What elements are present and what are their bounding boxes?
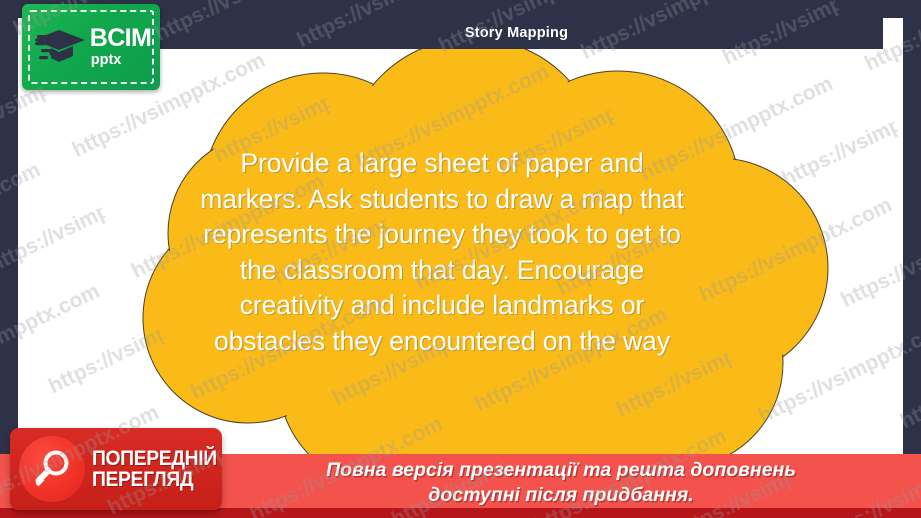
magnifier-icon xyxy=(19,436,85,502)
preview-badge[interactable]: ПОПЕРЕДНІЙ ПЕРЕГЛЯД xyxy=(10,428,222,510)
banner-message: Повна версія презентації та решта доповн… xyxy=(225,458,897,508)
preview-badge-line-2: ПЕРЕГЛЯД xyxy=(92,469,217,490)
presentation-viewer: Provide a large sheet of paper and marke… xyxy=(0,0,921,518)
slide-title-bar: Story Mapping xyxy=(150,16,883,49)
logo-wordmark: BCIM pptx xyxy=(90,26,151,68)
banner-line-1: Повна версія презентації та решта доповн… xyxy=(225,458,897,483)
preview-badge-line-1: ПОПЕРЕДНІЙ xyxy=(92,448,217,469)
logo-sub-text: pptx xyxy=(91,53,151,68)
preview-badge-label: ПОПЕРЕДНІЙ ПЕРЕГЛЯД xyxy=(92,448,228,491)
page-title: Story Mapping xyxy=(465,25,568,41)
banner-line-2: доступні після придбання. xyxy=(225,483,897,508)
slide-body-text: Provide a large sheet of paper and marke… xyxy=(188,146,696,359)
site-logo[interactable]: BCIM pptx xyxy=(22,4,160,90)
graduation-cap-icon xyxy=(35,22,87,72)
logo-main-text: BCIM xyxy=(90,26,151,51)
